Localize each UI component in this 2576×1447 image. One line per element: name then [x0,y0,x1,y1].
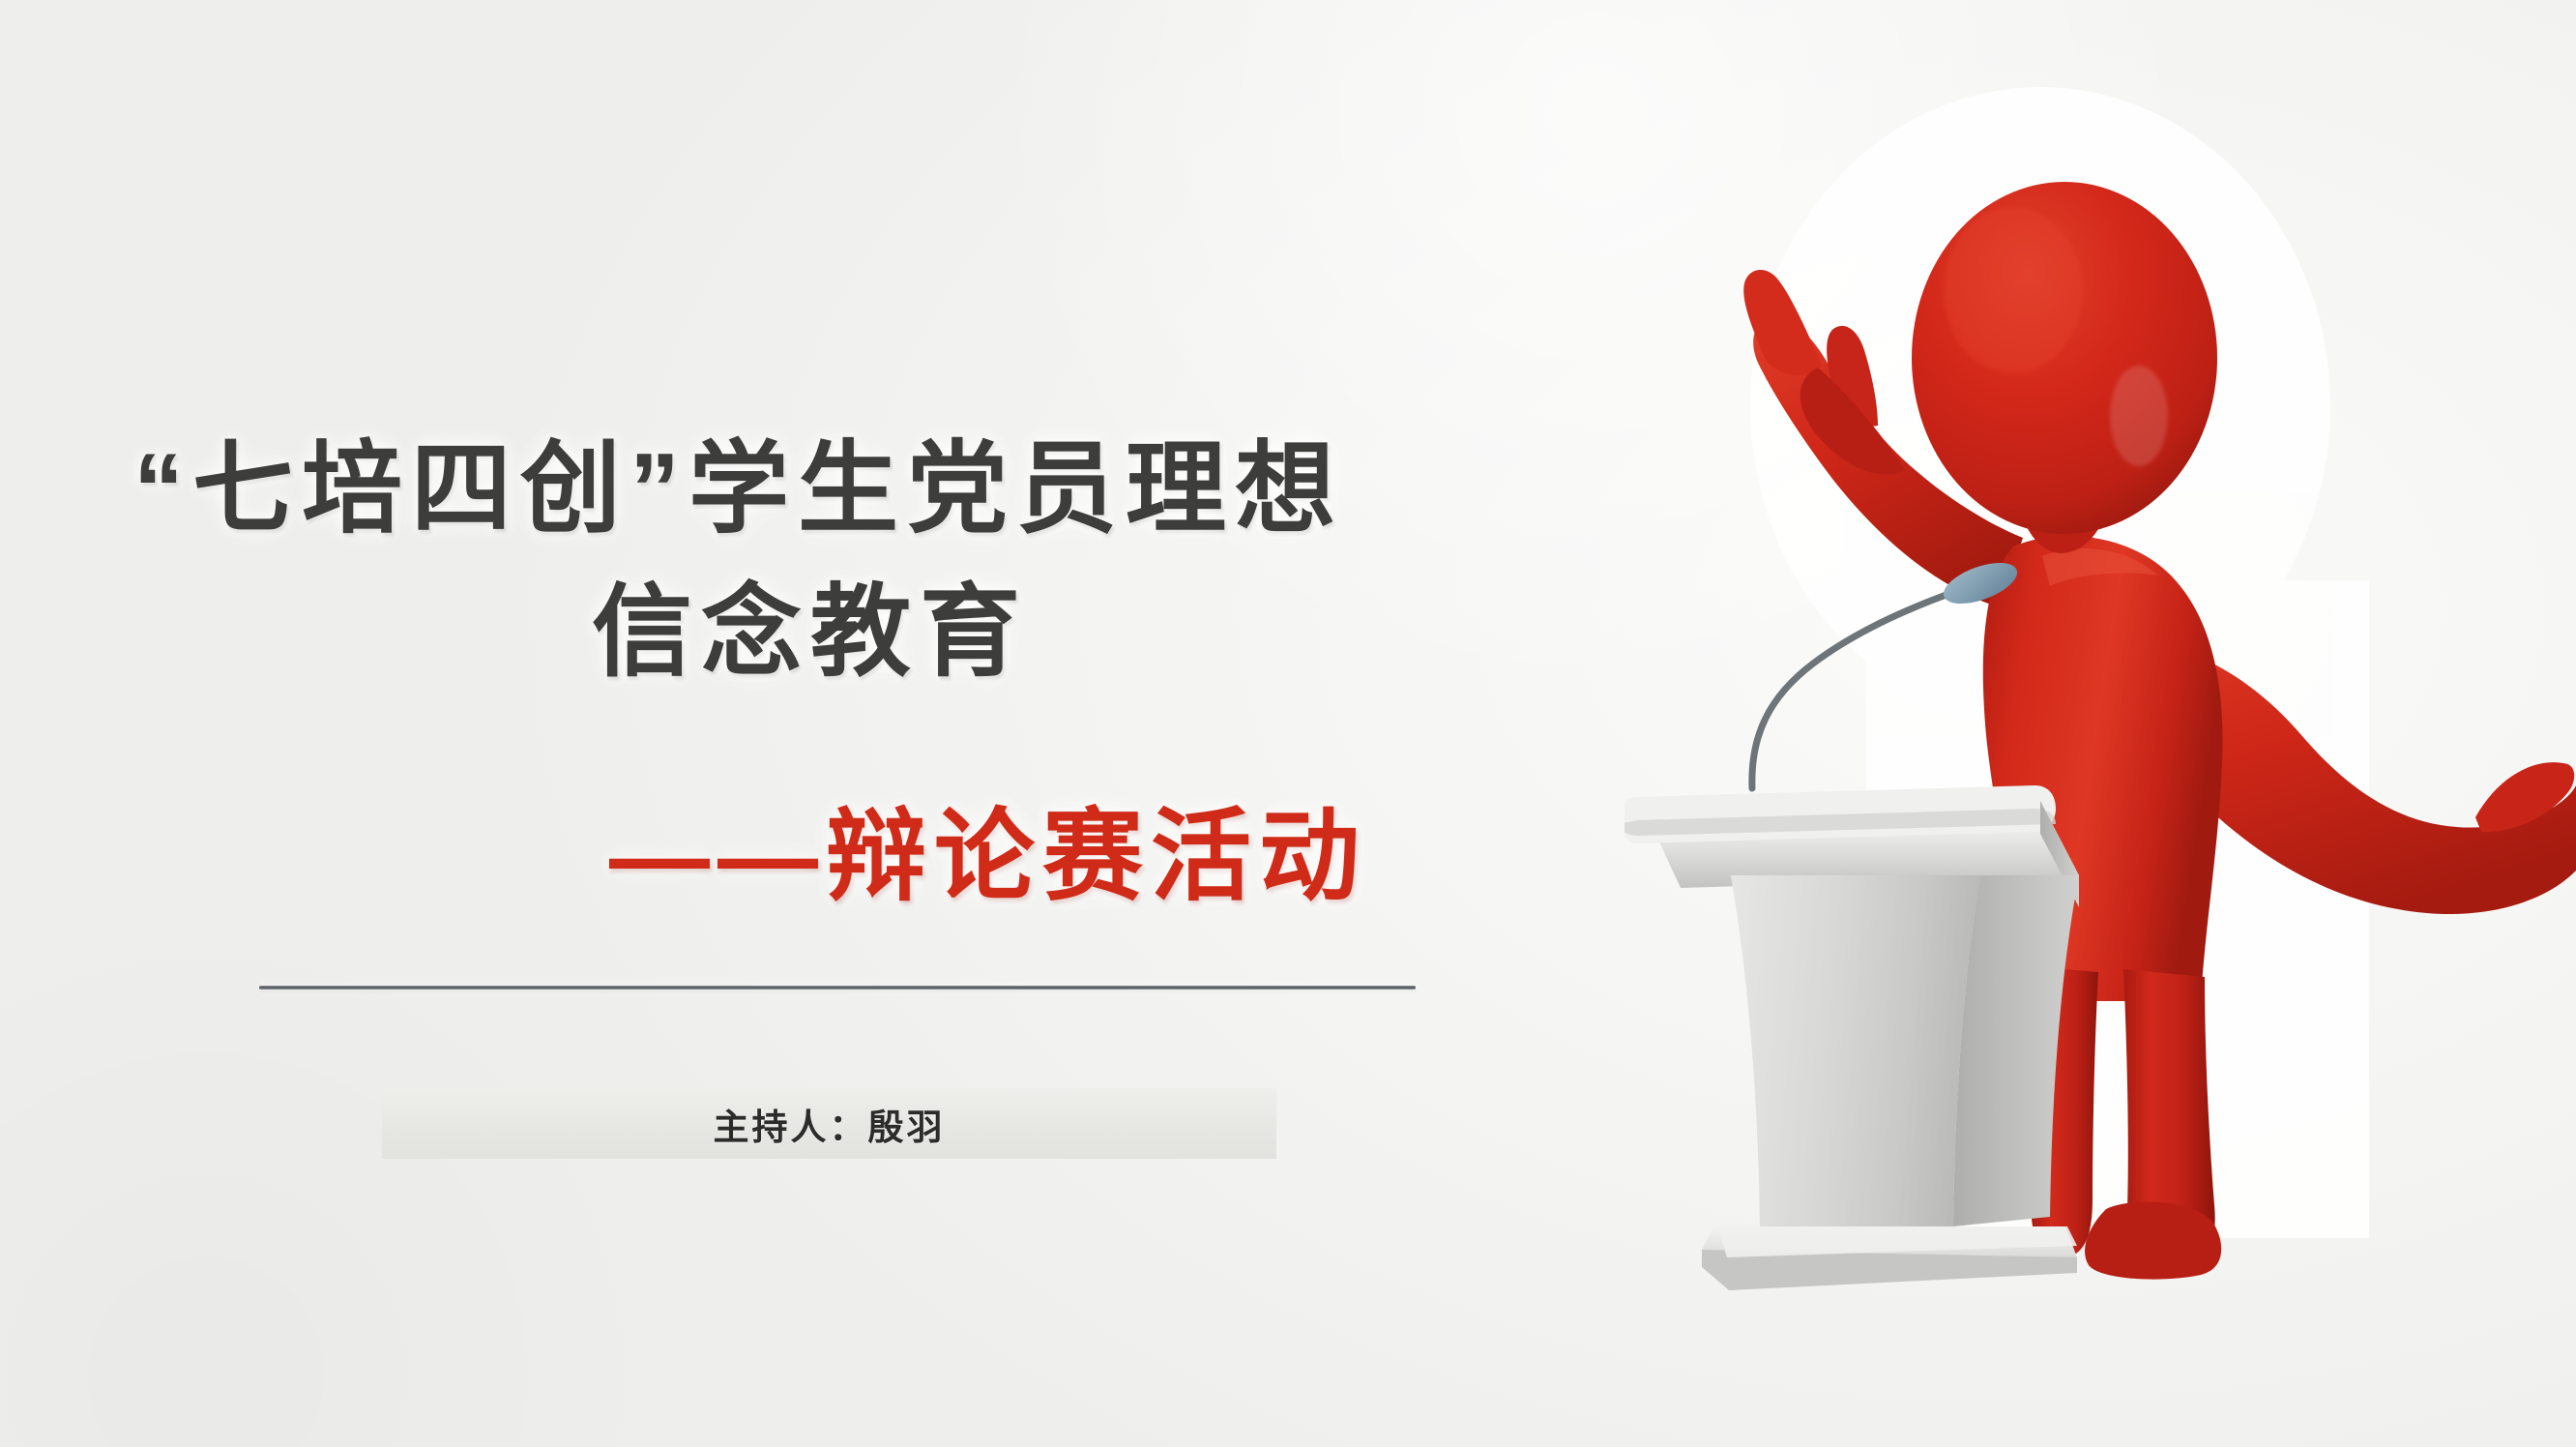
presentation-slide: “七培四创”学生党员理想 信念教育 ——辩论赛活动 主持人：殷羽 [0,0,2576,1447]
speaker-illustration [1625,0,2576,1447]
horizontal-divider [259,986,1416,989]
page-title-line-1: “七培四创”学生党员理想 [133,406,1344,552]
host-label-text: 主持人：殷羽 [714,1098,946,1150]
page-title-line-2: 信念教育 [592,549,1029,695]
page-subtitle: ——辩论赛活动 [609,774,1367,920]
podium [1625,785,2079,1290]
host-label-box: 主持人：殷羽 [382,1088,1276,1159]
figure-head [1912,182,2217,534]
slide-text-block: “七培四创”学生党员理想 信念教育 ——辩论赛活动 主持人：殷羽 [0,0,1644,1447]
